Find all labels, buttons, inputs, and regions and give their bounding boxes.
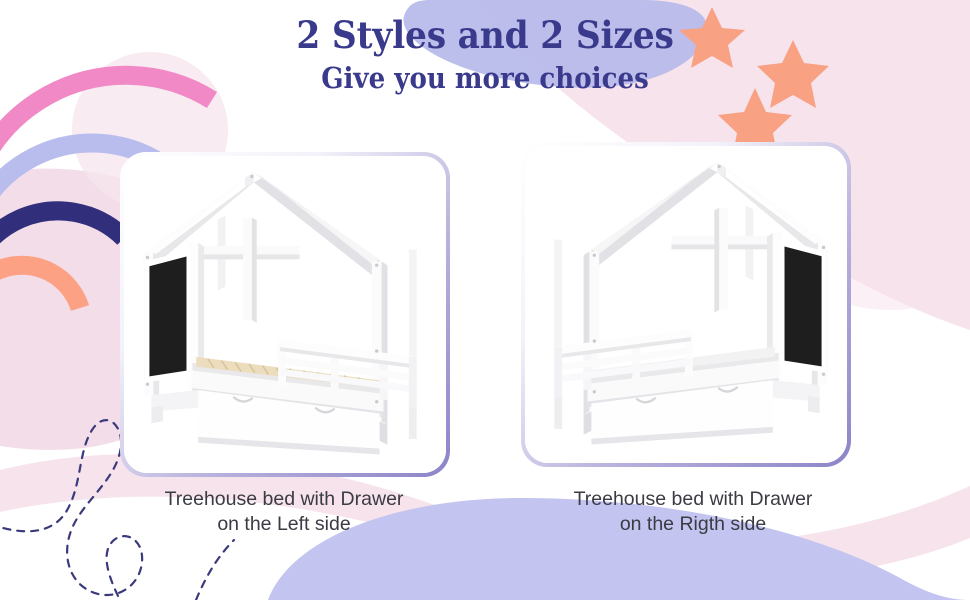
caption-right-line-2: on the Rigth side xyxy=(513,512,873,537)
product-card-left-surface xyxy=(124,156,446,473)
product-card-left[interactable] xyxy=(120,152,450,477)
product-caption-right: Treehouse bed with Drawer on the Rigth s… xyxy=(513,487,873,538)
product-caption-left: Treehouse bed with Drawer on the Left si… xyxy=(104,487,464,538)
caption-left-line-2: on the Left side xyxy=(104,512,464,537)
chalkboard-panel xyxy=(146,250,191,383)
caption-right-line-1: Treehouse bed with Drawer xyxy=(574,488,813,510)
treehouse-bed-left-image xyxy=(124,156,446,473)
title-line-1: 2 Styles and 2 Sizes xyxy=(34,16,936,56)
title-line-2: Give you more choices xyxy=(49,62,922,95)
chalkboard-panel xyxy=(781,240,826,373)
treehouse-bed-right-image xyxy=(525,146,847,463)
product-card-right[interactable] xyxy=(521,142,851,467)
banner-canvas: 2 Styles and 2 Sizes Give you more choic… xyxy=(0,0,970,600)
banner-title: 2 Styles and 2 Sizes Give you more choic… xyxy=(0,16,970,95)
product-card-right-surface xyxy=(525,146,847,463)
caption-left-line-1: Treehouse bed with Drawer xyxy=(165,488,404,510)
